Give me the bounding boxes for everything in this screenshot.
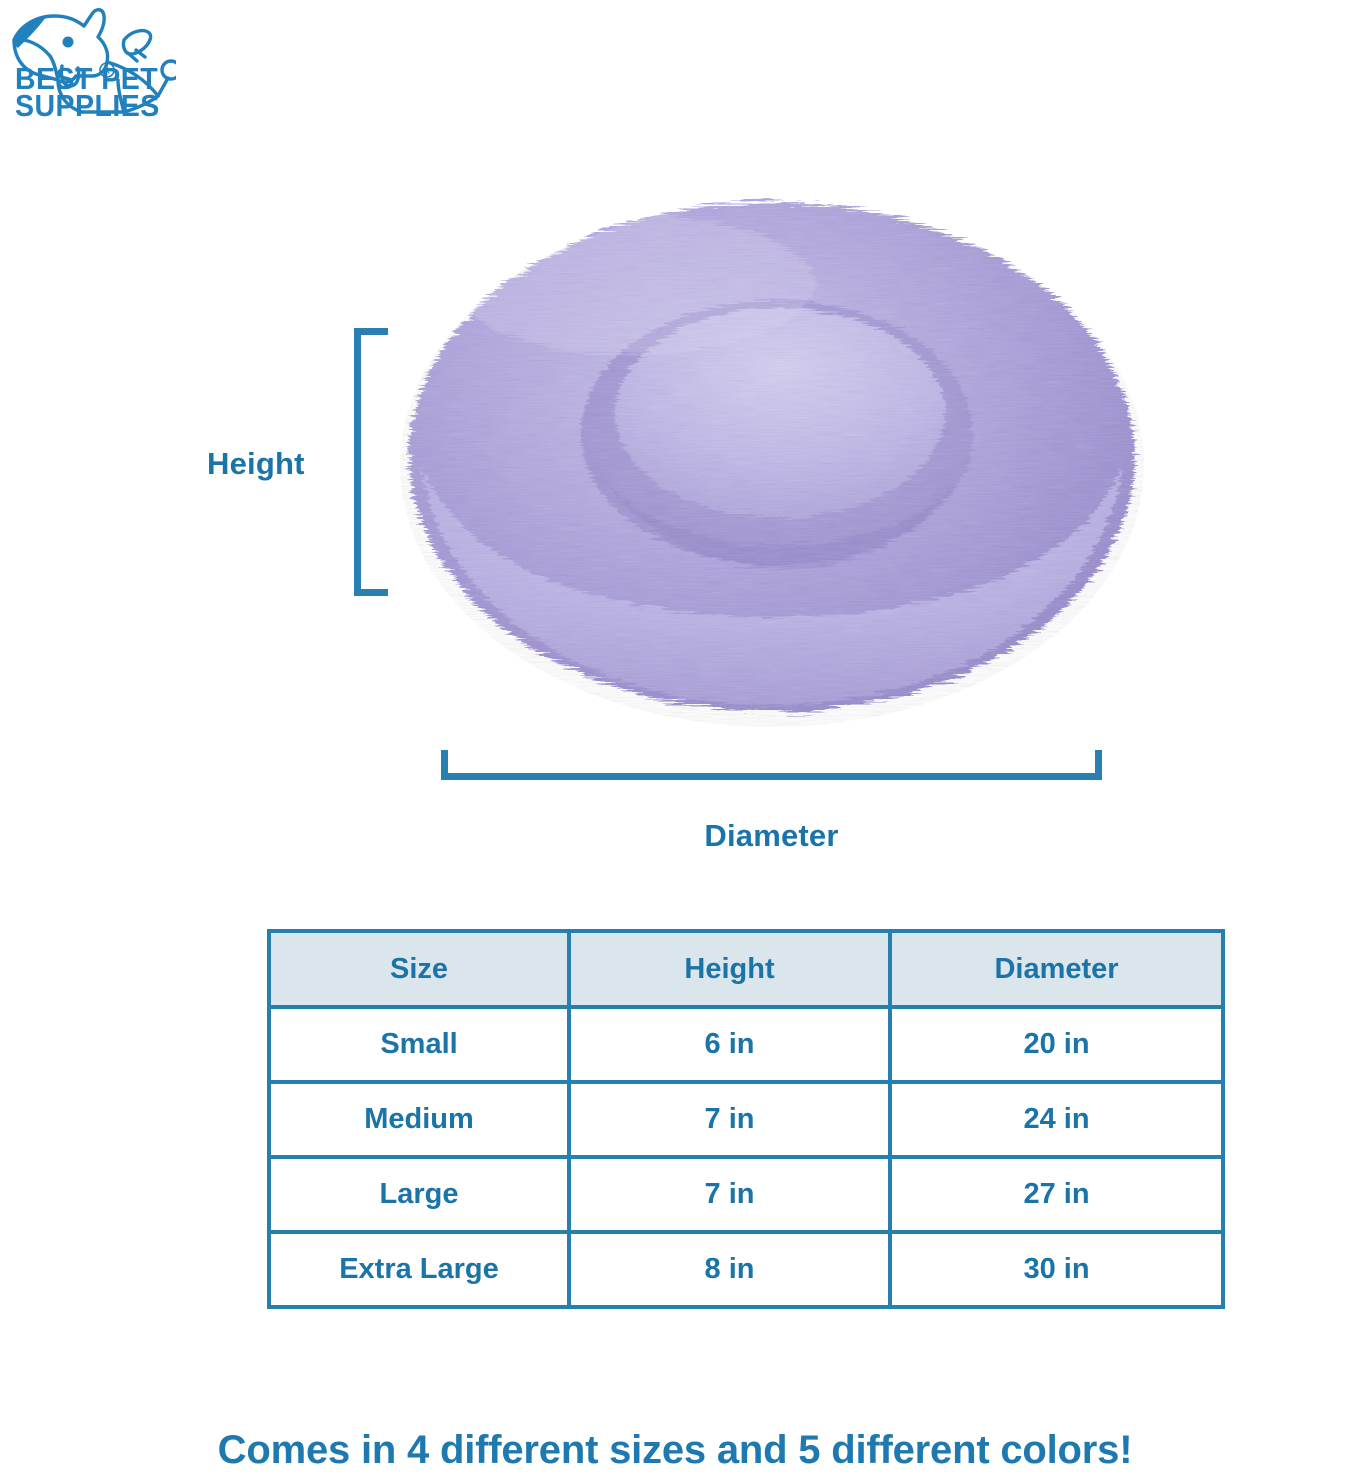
cell-size: Medium: [269, 1082, 569, 1157]
brand-wordmark: BEST PET SUPPLIES: [15, 66, 165, 119]
table-row: Large 7 in 27 in: [269, 1157, 1223, 1232]
footer-tagline: Comes in 4 different sizes and 5 differe…: [0, 1428, 1350, 1473]
cell-size: Extra Large: [269, 1232, 569, 1307]
diameter-callout-label: Diameter: [443, 818, 1100, 854]
cell-height: 6 in: [569, 1007, 890, 1082]
table-row: Medium 7 in 24 in: [269, 1082, 1223, 1157]
brand-wordmark-line2: SUPPLIES: [15, 93, 153, 120]
cell-height: 7 in: [569, 1157, 890, 1232]
cell-size: Small: [269, 1007, 569, 1082]
table-row: Small 6 in 20 in: [269, 1007, 1223, 1082]
column-header-diameter: Diameter: [890, 931, 1223, 1007]
cell-diameter: 20 in: [890, 1007, 1223, 1082]
column-header-height: Height: [569, 931, 890, 1007]
brand-logo: R BEST PET SUPPLIES: [6, 4, 176, 130]
cell-diameter: 24 in: [890, 1082, 1223, 1157]
product-image-pet-bed: [385, 165, 1160, 740]
pet-bed-illustration: [385, 165, 1160, 740]
size-chart-table: Size Height Diameter Small 6 in 20 in Me…: [267, 929, 1225, 1309]
cell-diameter: 27 in: [890, 1157, 1223, 1232]
height-dimension-bracket: [354, 328, 388, 596]
cell-height: 8 in: [569, 1232, 890, 1307]
column-header-size: Size: [269, 931, 569, 1007]
table-header-row: Size Height Diameter: [269, 931, 1223, 1007]
cell-diameter: 30 in: [890, 1232, 1223, 1307]
table-row: Extra Large 8 in 30 in: [269, 1232, 1223, 1307]
cell-height: 7 in: [569, 1082, 890, 1157]
cell-size: Large: [269, 1157, 569, 1232]
diameter-dimension-bracket: [441, 750, 1102, 780]
height-callout-label: Height: [207, 446, 305, 482]
